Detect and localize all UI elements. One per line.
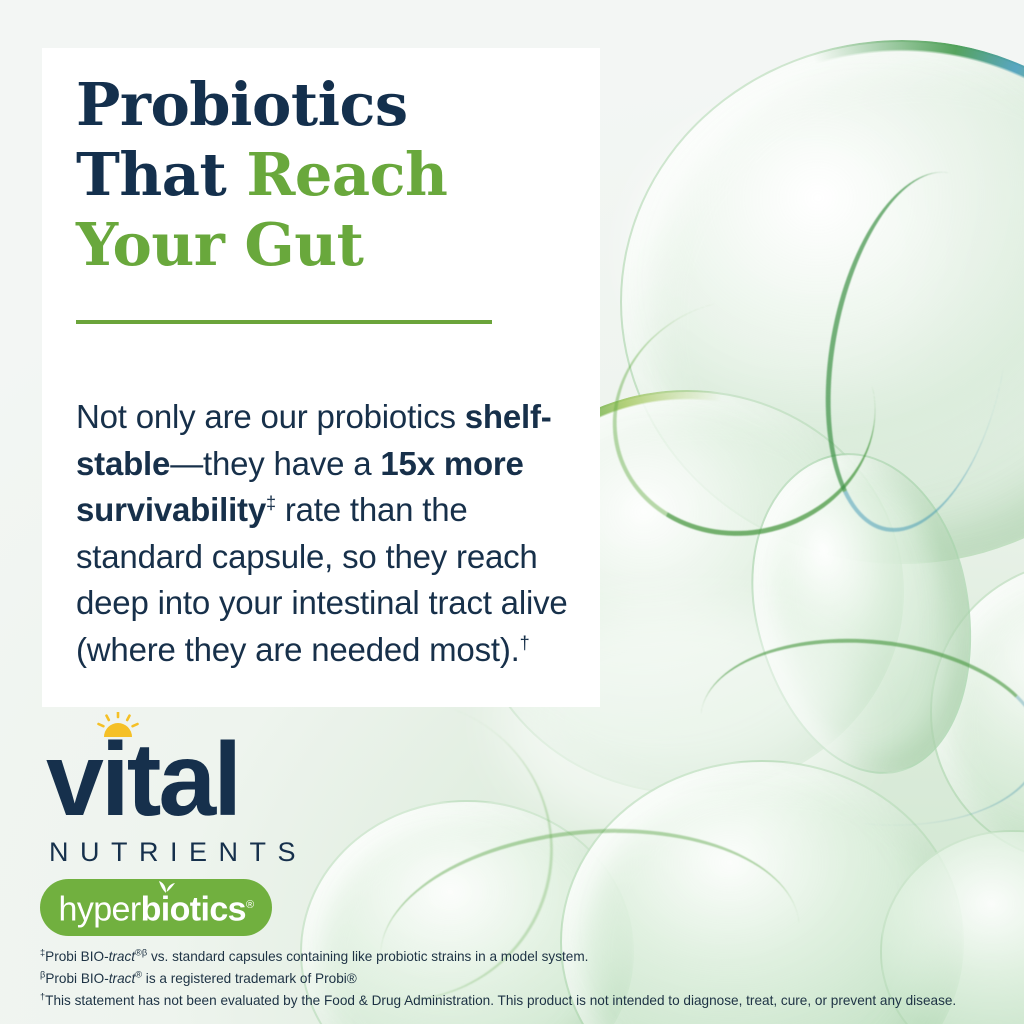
- footnote-3-text: This statement has not been evaluated by…: [45, 993, 956, 1008]
- hyperbiotics-light-text: hyper: [59, 891, 141, 929]
- vital-nutrients-logo: vital NUTRIENTS: [46, 728, 307, 868]
- footnote-2-italic: tract: [109, 971, 135, 986]
- footnote-1-pre: Probi BIO-: [45, 949, 108, 964]
- footnote-2-sup: ®: [135, 969, 142, 979]
- body-text-part-1: Not only are our probiotics: [76, 398, 465, 435]
- hyperbiotics-bold-text: biotics: [141, 891, 246, 929]
- headline-line-2-accent: Reach: [246, 140, 447, 209]
- hyperbiotics-logo: hyperbiotics®: [40, 879, 272, 936]
- footnote-2-pre: Probi BIO-: [45, 971, 108, 986]
- vital-wordmark: vital: [46, 728, 307, 832]
- headline-line-2-dark: That: [76, 140, 246, 209]
- page-title: Probiotics That Reach Your Gut: [76, 70, 576, 280]
- divider: [76, 320, 492, 324]
- vital-logo-text: vital: [46, 722, 239, 838]
- footnote-1-sup: ®β: [135, 947, 147, 957]
- vital-logo-subtitle: NUTRIENTS: [49, 837, 307, 868]
- headline-line-3-accent: Your Gut: [76, 210, 363, 279]
- registered-mark: ®: [246, 899, 254, 911]
- leaf-sprout-icon: [155, 878, 177, 894]
- headline-line-1: Probiotics: [76, 70, 408, 139]
- footnote-marker-dagger: †: [520, 633, 530, 653]
- promotional-banner: Probiotics That Reach Your Gut Not only …: [0, 0, 1024, 1024]
- footnote-2-post: is a registered trademark of Probi®: [142, 971, 357, 986]
- footnote-line-2: βProbi BIO-tract® is a registered tradem…: [40, 968, 1020, 990]
- body-paragraph: Not only are our probiotics shelf-stable…: [76, 394, 591, 673]
- content-card: Probiotics That Reach Your Gut Not only …: [42, 48, 600, 707]
- footnote-line-3: †This statement has not been evaluated b…: [40, 990, 1020, 1012]
- footnotes: ‡Probi BIO-tract®β vs. standard capsules…: [40, 946, 1020, 1012]
- body-text-part-2: —they have a: [170, 445, 380, 482]
- hyperbiotics-wordmark: hyperbiotics®: [59, 888, 254, 926]
- footnote-1-post: vs. standard capsules containing like pr…: [147, 949, 588, 964]
- footnote-marker-double-dagger: ‡: [266, 493, 276, 513]
- footnote-1-italic: tract: [109, 949, 135, 964]
- sunburst-icon: [97, 712, 139, 738]
- footnote-line-1: ‡Probi BIO-tract®β vs. standard capsules…: [40, 946, 1020, 968]
